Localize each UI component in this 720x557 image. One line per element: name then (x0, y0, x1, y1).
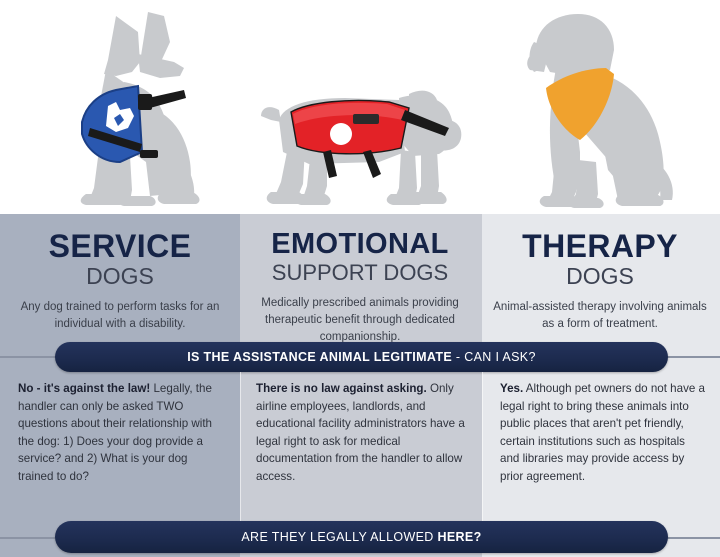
therapy-title-main: THERAPY (490, 230, 710, 263)
service-dog-illustration-cell (0, 0, 240, 214)
bottom-banner-normal: ARE THEY LEGALLY ALLOWED (241, 530, 437, 544)
service-answer-lead: No - it's against the law! (18, 382, 150, 395)
emotional-support-title-sub: SUPPORT DOGS (250, 261, 470, 286)
illustration-band (0, 0, 720, 214)
labrador-therapy-bandana-illustration (500, 2, 700, 214)
top-banner-pill: IS THE ASSISTANCE ANIMAL LEGITIMATE - CA… (55, 342, 668, 372)
therapy-answer-text: Yes. Although pet owners do not have a l… (500, 380, 706, 486)
therapy-description: Animal-assisted therapy involving animal… (490, 299, 710, 332)
top-banner-normal: - CAN I ASK? (452, 350, 536, 364)
service-vest (82, 86, 142, 162)
service-title-cell: SERVICE DOGS Any dog trained to perform … (0, 214, 240, 342)
emotional-support-dog-illustration-cell (240, 0, 480, 214)
bulldog-emotional-support-vest-illustration (249, 2, 471, 214)
service-title-main: SERVICE (10, 230, 230, 263)
top-banner-bold: IS THE ASSISTANCE ANIMAL LEGITIMATE (187, 350, 452, 364)
therapy-answer-lead: Yes. (500, 382, 523, 395)
service-answer-text: No - it's against the law! Legally, the … (18, 380, 224, 486)
answer-column-divider-2 (482, 372, 483, 521)
emotional-support-answer-cell: There is no law against asking. Only air… (240, 372, 482, 521)
emotional-support-description: Medically prescribed animals providing t… (250, 295, 470, 345)
bottom-banner: ARE THEY LEGALLY ALLOWED HERE? (0, 521, 720, 555)
bottom-banner-pill: ARE THEY LEGALLY ALLOWED HERE? (55, 521, 668, 553)
answer-column-divider-1 (240, 372, 241, 521)
emotional-support-answer-text: There is no law against asking. Only air… (256, 380, 470, 486)
bottom-banner-bold: HERE? (437, 530, 481, 544)
therapy-dog-illustration-cell (480, 0, 720, 214)
service-title-sub: DOGS (10, 264, 230, 290)
therapy-title-cell: THERAPY DOGS Animal-assisted therapy inv… (480, 214, 720, 342)
titles-row: SERVICE DOGS Any dog trained to perform … (0, 214, 720, 342)
top-banner: IS THE ASSISTANCE ANIMAL LEGITIMATE - CA… (0, 342, 720, 372)
therapy-answer-cell: Yes. Although pet owners do not have a l… (482, 372, 720, 521)
therapy-title-sub: DOGS (490, 264, 710, 290)
emotional-support-title-cell: EMOTIONAL SUPPORT DOGS Medically prescri… (240, 214, 480, 342)
answers-row: No - it's against the law! Legally, the … (0, 372, 720, 521)
emotional-support-answer-lead: There is no law against asking. (256, 382, 427, 395)
bottom-banner-text: ARE THEY LEGALLY ALLOWED HERE? (241, 530, 481, 544)
emotional-support-title-main: EMOTIONAL (250, 230, 470, 260)
emotional-support-answer-body: Only airline employees, landlords, and e… (256, 382, 465, 483)
service-description: Any dog trained to perform tasks for an … (10, 299, 230, 332)
top-banner-text: IS THE ASSISTANCE ANIMAL LEGITIMATE - CA… (187, 350, 536, 364)
therapy-answer-body: Although pet owners do not have a legal … (500, 382, 705, 483)
infographic-root: SERVICE DOGS Any dog trained to perform … (0, 0, 720, 557)
service-answer-body: Legally, the handler can only be asked T… (18, 382, 212, 483)
german-shepherd-service-vest-illustration (20, 2, 220, 214)
emotional-support-vest (291, 100, 409, 153)
service-answer-cell: No - it's against the law! Legally, the … (0, 372, 240, 521)
